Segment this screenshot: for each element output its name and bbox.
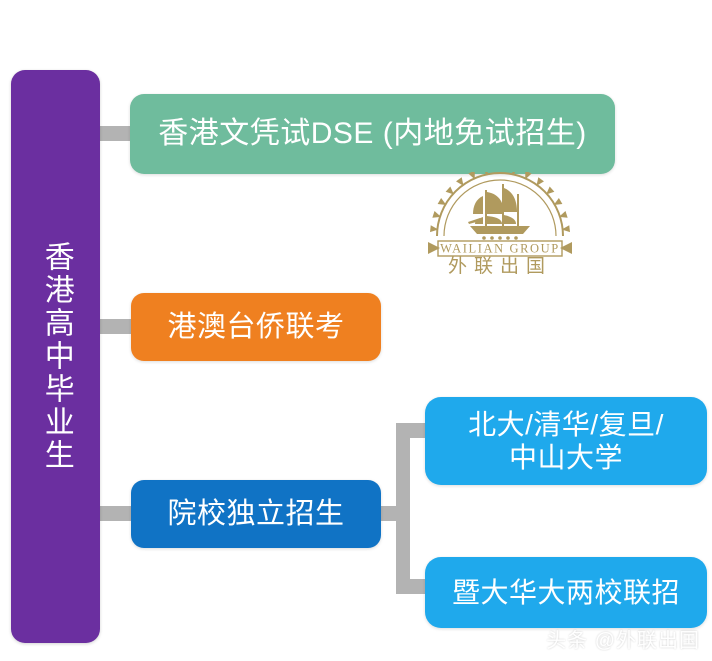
node-independent-admission[interactable]: 院校独立招生 bbox=[131, 480, 381, 548]
connector-root-to-dse bbox=[99, 126, 132, 141]
node-root-hk-graduates[interactable]: 香港高中毕业生 bbox=[11, 70, 100, 643]
node-jinan-huaqiao-label: 暨大华大两校联招 bbox=[452, 576, 680, 609]
wailian-group-logo: WAILIAN GROUP 外联出国 bbox=[414, 172, 586, 276]
node-root-label: 香港高中毕业生 bbox=[39, 241, 71, 472]
node-jinan-huaqiao[interactable]: 暨大华大两校联招 bbox=[425, 557, 707, 628]
node-independent-admission-label: 院校独立招生 bbox=[167, 497, 344, 531]
watermark: 头条 @外联出国 bbox=[546, 624, 700, 653]
node-joint-exam[interactable]: 港澳台侨联考 bbox=[131, 293, 381, 361]
sailing-ship-icon bbox=[468, 184, 530, 240]
node-dse[interactable]: 香港文凭试DSE (内地免试招生) bbox=[130, 94, 615, 174]
node-top-universities-label: 北大/清华/复旦/ 中山大学 bbox=[468, 408, 664, 474]
node-joint-exam-label: 港澳台侨联考 bbox=[167, 310, 344, 344]
node-top-universities[interactable]: 北大/清华/复旦/ 中山大学 bbox=[425, 397, 707, 485]
logo-chinese-name: 外联出国 bbox=[448, 255, 552, 276]
connector-root-to-independent bbox=[99, 506, 133, 521]
node-dse-label: 香港文凭试DSE (内地免试招生) bbox=[158, 116, 587, 151]
watermark-text: 头条 @外联出国 bbox=[546, 630, 700, 652]
connector-root-to-joint-exam bbox=[99, 319, 133, 334]
logo-banner-text: WAILIAN GROUP bbox=[440, 242, 560, 256]
flow-diagram: 香港高中毕业生 香港文凭试DSE (内地免试招生) 港澳台侨联考 院校独立招生 … bbox=[0, 0, 712, 661]
connector-bracket-vertical bbox=[396, 423, 410, 594]
